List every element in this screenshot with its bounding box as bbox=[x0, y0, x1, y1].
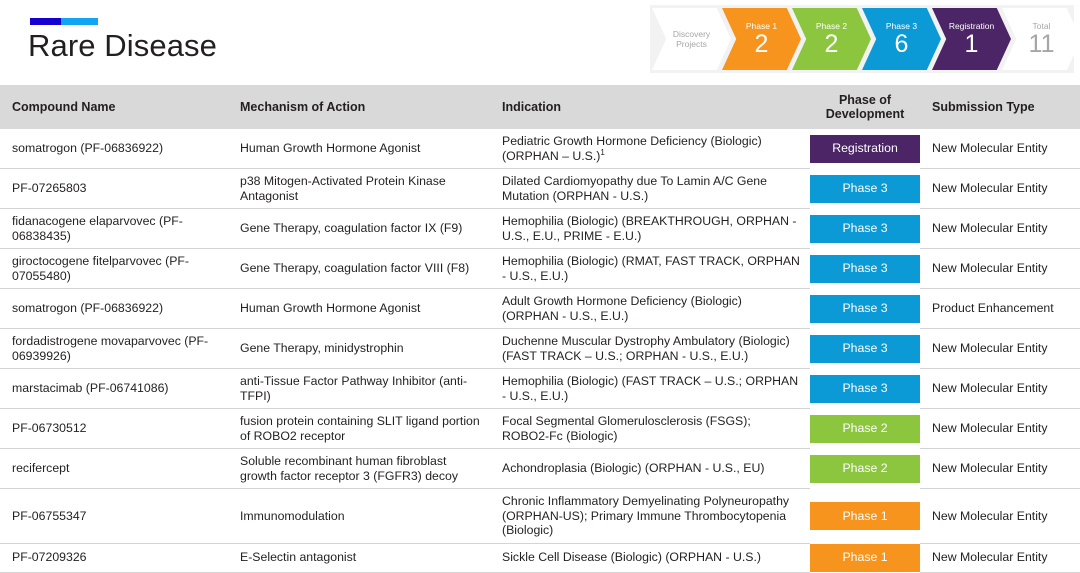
pipeline-stage-discovery-projects[interactable]: DiscoveryProjects bbox=[652, 8, 731, 70]
table-header-row: Compound Name Mechanism of Action Indica… bbox=[0, 85, 1080, 129]
cell-submission-type: New Molecular Entity bbox=[920, 209, 1080, 249]
cell-compound-name: somatrogon (PF-06836922) bbox=[0, 129, 228, 169]
cell-compound-name: recifercept bbox=[0, 449, 228, 489]
table-row[interactable]: giroctocogene fitelparvovec (PF-07055480… bbox=[0, 249, 1080, 289]
cell-phase-of-development: Phase 3 bbox=[810, 209, 920, 249]
pipeline-stage-registration[interactable]: Registration1 bbox=[932, 8, 1011, 70]
cell-indication: Hemophilia (Biologic) (RMAT, FAST TRACK,… bbox=[490, 249, 810, 289]
table-row[interactable]: PF-07209326E-Selectin antagonistSickle C… bbox=[0, 543, 1080, 572]
pipeline-stage-phase-2[interactable]: Phase 22 bbox=[792, 8, 871, 70]
cell-submission-type: New Molecular Entity bbox=[920, 329, 1080, 369]
cell-compound-name: PF-06730512 bbox=[0, 409, 228, 449]
cell-phase-of-development: Phase 2 bbox=[810, 449, 920, 489]
cell-phase-of-development: Phase 3 bbox=[810, 369, 920, 409]
cell-submission-type: New Molecular Entity bbox=[920, 489, 1080, 544]
pipeline-table: Compound Name Mechanism of Action Indica… bbox=[0, 85, 1080, 573]
cell-submission-type: New Molecular Entity bbox=[920, 449, 1080, 489]
page-header: Rare Disease DiscoveryProjectsPhase 12Ph… bbox=[0, 0, 1080, 85]
table-row[interactable]: PF-06730512fusion protein containing SLI… bbox=[0, 409, 1080, 449]
pipeline-stage-count: 11 bbox=[1029, 32, 1055, 57]
pipeline-stage-count: 6 bbox=[895, 32, 909, 57]
column-header-phase-of-development[interactable]: Phase of Development bbox=[810, 85, 920, 129]
pipeline-stage-label: DiscoveryProjects bbox=[673, 29, 710, 50]
cell-compound-name: PF-07265803 bbox=[0, 169, 228, 209]
phase-header-line1: Phase of bbox=[839, 93, 891, 107]
cell-phase-of-development: Registration bbox=[810, 129, 920, 169]
phase-pipeline-chart: DiscoveryProjectsPhase 12Phase 22Phase 3… bbox=[650, 5, 1074, 73]
cell-phase-of-development: Phase 3 bbox=[810, 249, 920, 289]
cell-phase-of-development: Phase 3 bbox=[810, 289, 920, 329]
column-header-compound-name[interactable]: Compound Name bbox=[0, 85, 228, 129]
cell-submission-type: New Molecular Entity bbox=[920, 409, 1080, 449]
pipeline-stage-count: 2 bbox=[755, 32, 769, 57]
cell-compound-name: fordadistrogene movaparvovec (PF-0693992… bbox=[0, 329, 228, 369]
phase-badge: Phase 3 bbox=[810, 375, 920, 403]
cell-submission-type: Product Enhancement bbox=[920, 289, 1080, 329]
table-row[interactable]: fidanacogene elaparvovec (PF-06838435)Ge… bbox=[0, 209, 1080, 249]
phase-badge: Phase 3 bbox=[810, 335, 920, 363]
cell-mechanism-of-action: Human Growth Hormone Agonist bbox=[228, 289, 490, 329]
cell-mechanism-of-action: Gene Therapy, coagulation factor VIII (F… bbox=[228, 249, 490, 289]
pipeline-page: Rare Disease DiscoveryProjectsPhase 12Ph… bbox=[0, 0, 1080, 510]
table-row[interactable]: fordadistrogene movaparvovec (PF-0693992… bbox=[0, 329, 1080, 369]
table-row[interactable]: PF-06755347ImmunomodulationChronic Infla… bbox=[0, 489, 1080, 544]
cell-indication: Sickle Cell Disease (Biologic) (ORPHAN -… bbox=[490, 543, 810, 572]
cell-submission-type: New Molecular Entity bbox=[920, 543, 1080, 572]
phase-badge: Phase 3 bbox=[810, 215, 920, 243]
pipeline-stage-count: 2 bbox=[825, 32, 839, 57]
cell-phase-of-development: Phase 2 bbox=[810, 409, 920, 449]
phase-badge: Phase 1 bbox=[810, 544, 920, 572]
cell-compound-name: fidanacogene elaparvovec (PF-06838435) bbox=[0, 209, 228, 249]
phase-badge: Phase 2 bbox=[810, 455, 920, 483]
table-row[interactable]: reciferceptSoluble recombinant human fib… bbox=[0, 449, 1080, 489]
column-header-indication[interactable]: Indication bbox=[490, 85, 810, 129]
cell-submission-type: New Molecular Entity bbox=[920, 369, 1080, 409]
table-row[interactable]: PF-07265803p38 Mitogen-Activated Protein… bbox=[0, 169, 1080, 209]
cell-indication: Focal Segmental Glomerulosclerosis (FSGS… bbox=[490, 409, 810, 449]
cell-phase-of-development: Phase 3 bbox=[810, 169, 920, 209]
cell-indication: Chronic Inflammatory Demyelinating Polyn… bbox=[490, 489, 810, 544]
pipeline-stage-phase-3[interactable]: Phase 36 bbox=[862, 8, 941, 70]
cell-mechanism-of-action: Human Growth Hormone Agonist bbox=[228, 129, 490, 169]
cell-mechanism-of-action: Soluble recombinant human fibroblast gro… bbox=[228, 449, 490, 489]
cell-indication: Duchenne Muscular Dystrophy Ambulatory (… bbox=[490, 329, 810, 369]
phase-badge: Phase 1 bbox=[810, 502, 920, 530]
cell-phase-of-development: Phase 1 bbox=[810, 489, 920, 544]
cell-indication: Hemophilia (Biologic) (BREAKTHROUGH, ORP… bbox=[490, 209, 810, 249]
phase-header-line2: Development bbox=[826, 107, 905, 121]
phase-badge: Phase 2 bbox=[810, 415, 920, 443]
accent-segment-left bbox=[30, 18, 61, 25]
indication-footnote-marker: 1 bbox=[600, 147, 604, 156]
cell-compound-name: somatrogon (PF-06836922) bbox=[0, 289, 228, 329]
cell-compound-name: marstacimab (PF-06741086) bbox=[0, 369, 228, 409]
phase-badge: Phase 3 bbox=[810, 295, 920, 323]
cell-submission-type: New Molecular Entity bbox=[920, 249, 1080, 289]
brand-accent-bar bbox=[30, 18, 98, 25]
phase-badge: Phase 3 bbox=[810, 175, 920, 203]
cell-phase-of-development: Phase 3 bbox=[810, 329, 920, 369]
cell-submission-type: New Molecular Entity bbox=[920, 129, 1080, 169]
column-header-submission-type[interactable]: Submission Type bbox=[920, 85, 1080, 129]
cell-indication: Achondroplasia (Biologic) (ORPHAN - U.S.… bbox=[490, 449, 810, 489]
cell-mechanism-of-action: E-Selectin antagonist bbox=[228, 543, 490, 572]
phase-badge: Registration bbox=[810, 135, 920, 163]
cell-mechanism-of-action: p38 Mitogen-Activated Protein Kinase Ant… bbox=[228, 169, 490, 209]
pipeline-stage-phase-1[interactable]: Phase 12 bbox=[722, 8, 801, 70]
cell-mechanism-of-action: Gene Therapy, coagulation factor IX (F9) bbox=[228, 209, 490, 249]
cell-mechanism-of-action: Gene Therapy, minidystrophin bbox=[228, 329, 490, 369]
cell-mechanism-of-action: Immunomodulation bbox=[228, 489, 490, 544]
phase-badge: Phase 3 bbox=[810, 255, 920, 283]
table-row[interactable]: marstacimab (PF-06741086)anti-Tissue Fac… bbox=[0, 369, 1080, 409]
cell-indication: Adult Growth Hormone Deficiency (Biologi… bbox=[490, 289, 810, 329]
table-row[interactable]: somatrogon (PF-06836922)Human Growth Hor… bbox=[0, 129, 1080, 169]
table-body: somatrogon (PF-06836922)Human Growth Hor… bbox=[0, 129, 1080, 572]
cell-phase-of-development: Phase 1 bbox=[810, 543, 920, 572]
cell-indication: Dilated Cardiomyopathy due To Lamin A/C … bbox=[490, 169, 810, 209]
cell-indication: Pediatric Growth Hormone Deficiency (Bio… bbox=[490, 129, 810, 169]
table-header: Compound Name Mechanism of Action Indica… bbox=[0, 85, 1080, 129]
cell-mechanism-of-action: anti-Tissue Factor Pathway Inhibitor (an… bbox=[228, 369, 490, 409]
accent-segment-right bbox=[61, 18, 98, 25]
cell-compound-name: PF-07209326 bbox=[0, 543, 228, 572]
pipeline-stage-count: 1 bbox=[965, 32, 979, 57]
cell-mechanism-of-action: fusion protein containing SLIT ligand po… bbox=[228, 409, 490, 449]
table-row[interactable]: somatrogon (PF-06836922)Human Growth Hor… bbox=[0, 289, 1080, 329]
cell-submission-type: New Molecular Entity bbox=[920, 169, 1080, 209]
pipeline-stage-total[interactable]: Total11 bbox=[1002, 8, 1080, 70]
cell-compound-name: PF-06755347 bbox=[0, 489, 228, 544]
cell-compound-name: giroctocogene fitelparvovec (PF-07055480… bbox=[0, 249, 228, 289]
page-title: Rare Disease bbox=[28, 30, 217, 61]
cell-indication: Hemophilia (Biologic) (FAST TRACK – U.S.… bbox=[490, 369, 810, 409]
column-header-mechanism-of-action[interactable]: Mechanism of Action bbox=[228, 85, 490, 129]
